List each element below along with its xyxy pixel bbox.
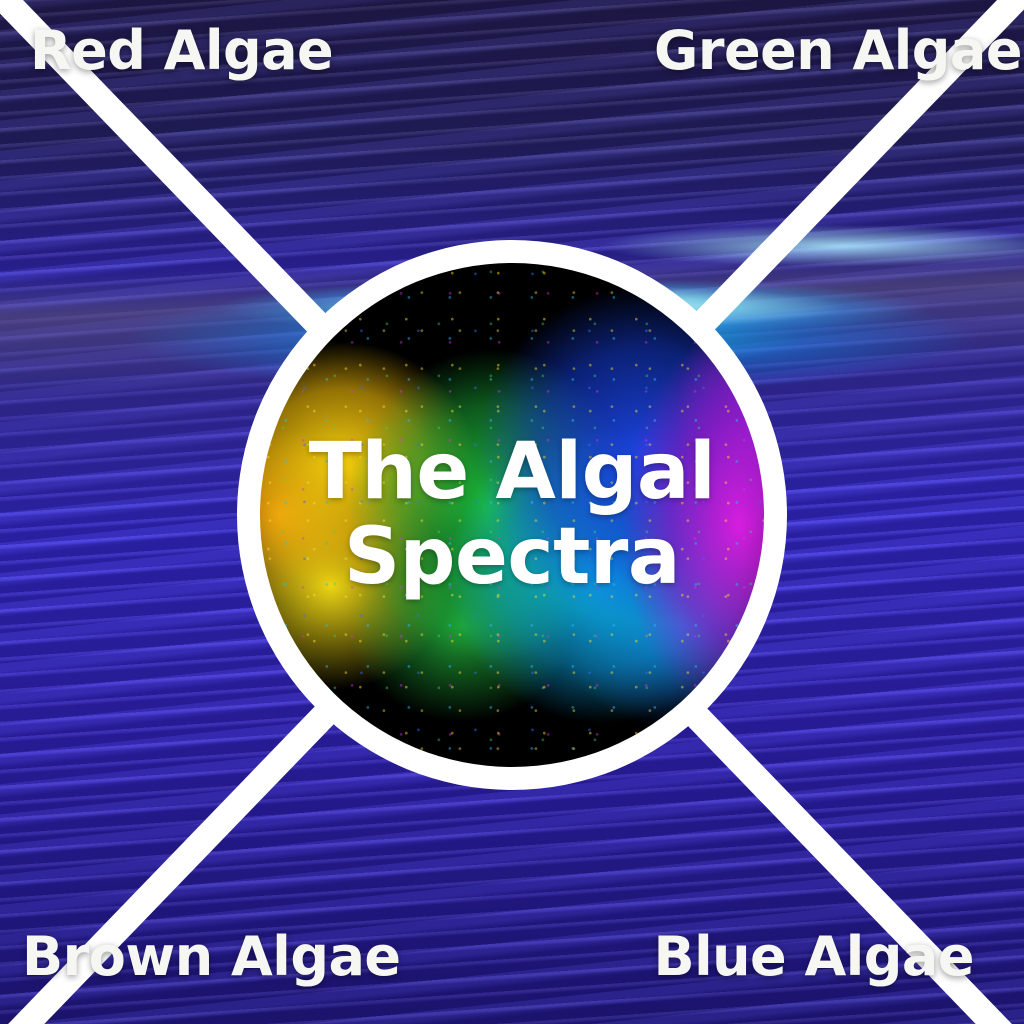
poster-title-line-1: The Algal <box>309 431 716 514</box>
label-green-algae: Green Algae <box>654 24 1022 78</box>
poster-title: The Algal Spectra <box>260 263 764 767</box>
algal-spectra-poster: The Algal Spectra Red Algae Green Algae … <box>0 0 1024 1024</box>
label-brown-algae: Brown Algae <box>22 930 401 984</box>
label-red-algae: Red Algae <box>30 24 333 78</box>
poster-title-line-2: Spectra <box>344 516 680 599</box>
label-blue-algae: Blue Algae <box>653 930 974 984</box>
